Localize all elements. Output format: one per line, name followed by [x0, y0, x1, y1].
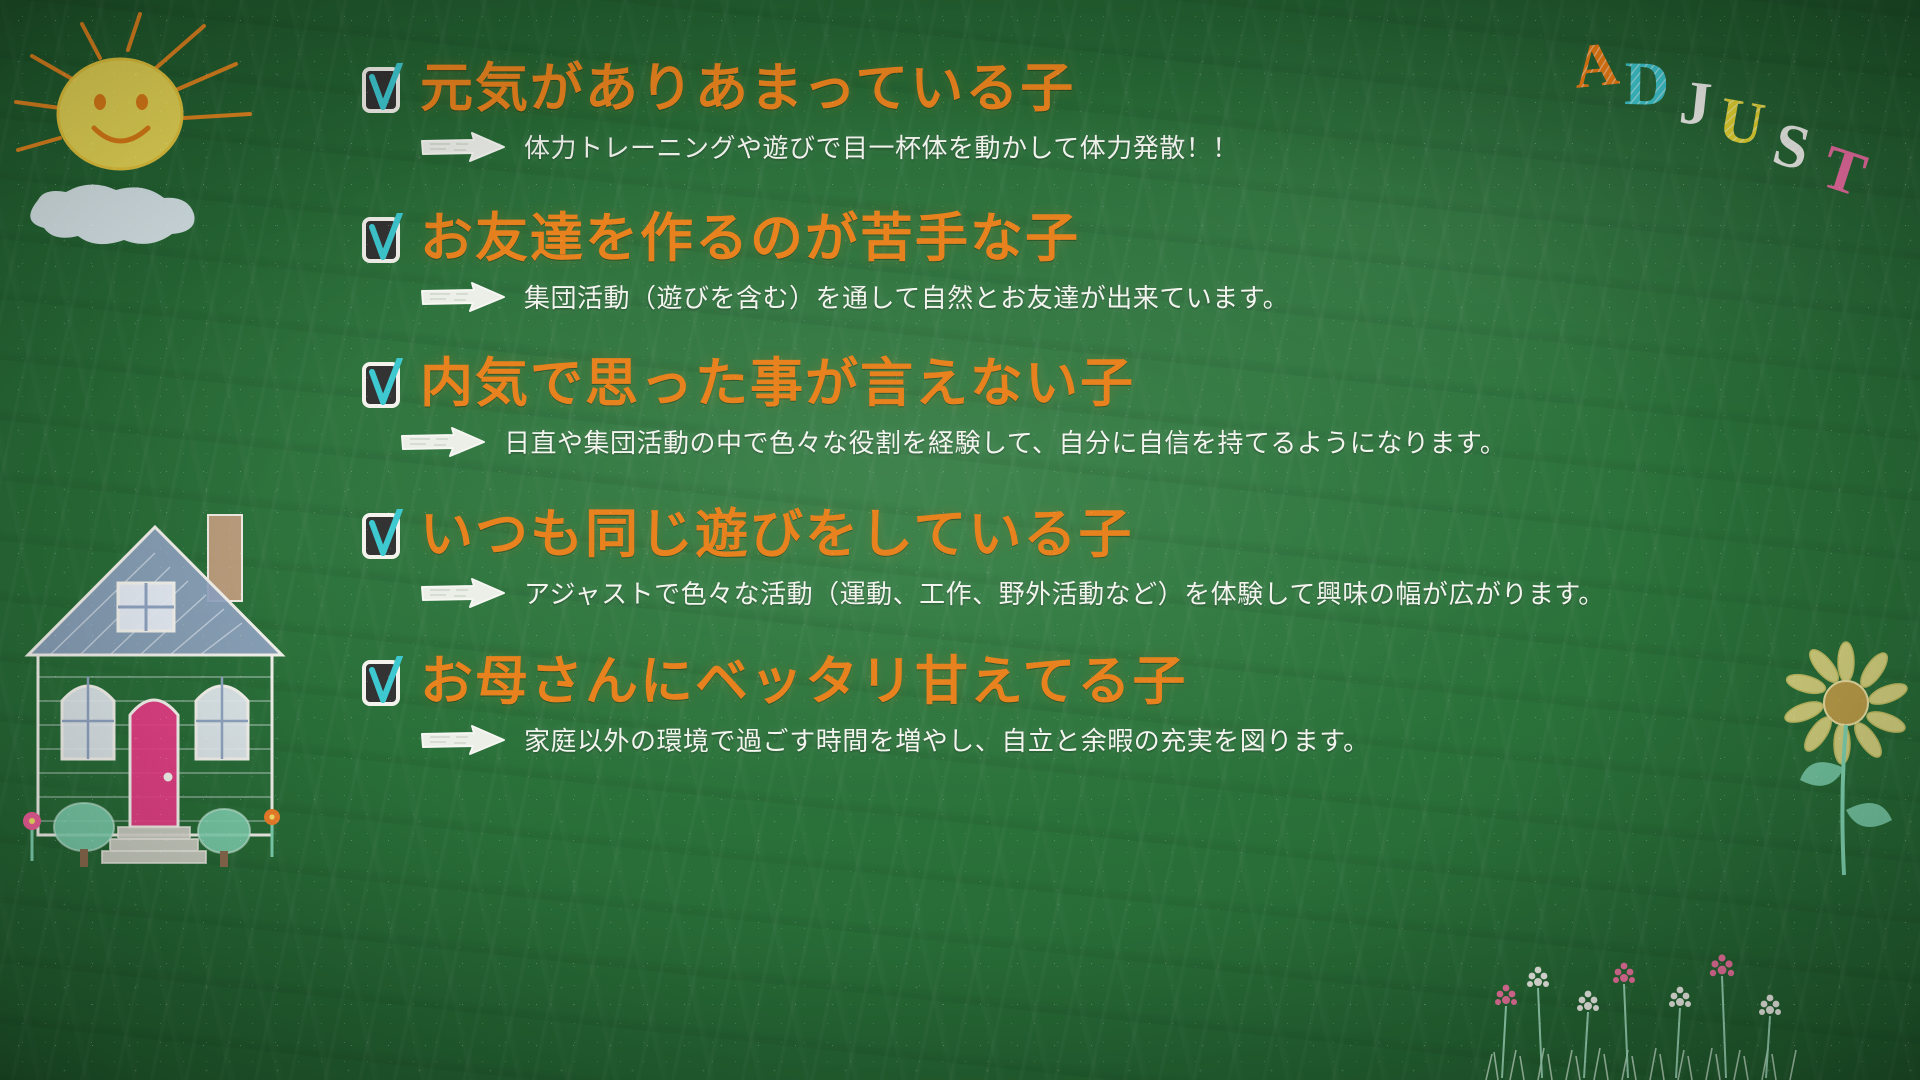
- arrow-right-icon: [400, 426, 486, 460]
- arrow-right-icon: [420, 577, 506, 611]
- item-headline: 元気がありあまっている子: [420, 62, 1075, 115]
- checkbox-checked-icon[interactable]: [360, 213, 406, 265]
- subtext-row: 日直や集団活動の中で色々な役割を経験して、自分に自信を持てるようになります。: [400, 426, 1506, 460]
- subtext-row: 体力トレーニングや遊びで目一杯体を動かして体力発散！！: [420, 131, 1239, 165]
- list-item: お母さんにベッタリ甘えてる子 家庭以外の環境で過ごす時間を増やし、自立と余暇の充…: [360, 655, 1370, 758]
- item-subtext: 体力トレーニングや遊びで目一杯体を動かして体力発散！！: [524, 135, 1239, 161]
- checkbox-checked-icon[interactable]: [360, 509, 406, 561]
- chalkboard-background: A D J U S T A D U S: [0, 0, 1920, 1080]
- checklist: 元気がありあまっている子 体力トレーニングや遊びで目一杯体を動かして体力発散！！: [0, 0, 1920, 1080]
- headline-row: 内気で思った事が言えない子: [360, 357, 1506, 410]
- arrow-right-icon: [420, 724, 506, 758]
- list-item: いつも同じ遊びをしている子 アジャストで色々な活動（運動、工作、野外活動など）を…: [360, 508, 1605, 611]
- list-item: 元気がありあまっている子 体力トレーニングや遊びで目一杯体を動かして体力発散！！: [360, 62, 1239, 165]
- checkbox-checked-icon[interactable]: [360, 63, 406, 115]
- item-headline: 内気で思った事が言えない子: [420, 357, 1135, 410]
- subtext-row: アジャストで色々な活動（運動、工作、野外活動など）を体験して興味の幅が広がります…: [420, 577, 1605, 611]
- checkbox-checked-icon[interactable]: [360, 656, 406, 708]
- headline-row: お母さんにベッタリ甘えてる子: [360, 655, 1370, 708]
- subtext-row: 家庭以外の環境で過ごす時間を増やし、自立と余暇の充実を図ります。: [420, 724, 1370, 758]
- item-subtext: 家庭以外の環境で過ごす時間を増やし、自立と余暇の充実を図ります。: [524, 728, 1370, 754]
- list-item: お友達を作るのが苦手な子 集団活動（遊びを含む）を通して自然とお友達が出来ていま…: [360, 212, 1289, 315]
- item-subtext: 日直や集団活動の中で色々な役割を経験して、自分に自信を持てるようになります。: [504, 430, 1506, 456]
- item-headline: いつも同じ遊びをしている子: [420, 508, 1133, 561]
- item-subtext: アジャストで色々な活動（運動、工作、野外活動など）を体験して興味の幅が広がります…: [524, 581, 1605, 607]
- list-item: 内気で思った事が言えない子 日直や集団活動の中で色々な役割を経験して、自分に自信…: [360, 357, 1506, 460]
- item-headline: お友達を作るのが苦手な子: [420, 212, 1080, 265]
- headline-row: お友達を作るのが苦手な子: [360, 212, 1289, 265]
- checkbox-checked-icon[interactable]: [360, 358, 406, 410]
- item-subtext: 集団活動（遊びを含む）を通して自然とお友達が出来ています。: [524, 285, 1289, 311]
- headline-row: 元気がありあまっている子: [360, 62, 1239, 115]
- arrow-right-icon: [420, 281, 506, 315]
- arrow-right-icon: [420, 131, 506, 165]
- headline-row: いつも同じ遊びをしている子: [360, 508, 1605, 561]
- subtext-row: 集団活動（遊びを含む）を通して自然とお友達が出来ています。: [420, 281, 1289, 315]
- item-headline: お母さんにベッタリ甘えてる子: [420, 655, 1187, 708]
